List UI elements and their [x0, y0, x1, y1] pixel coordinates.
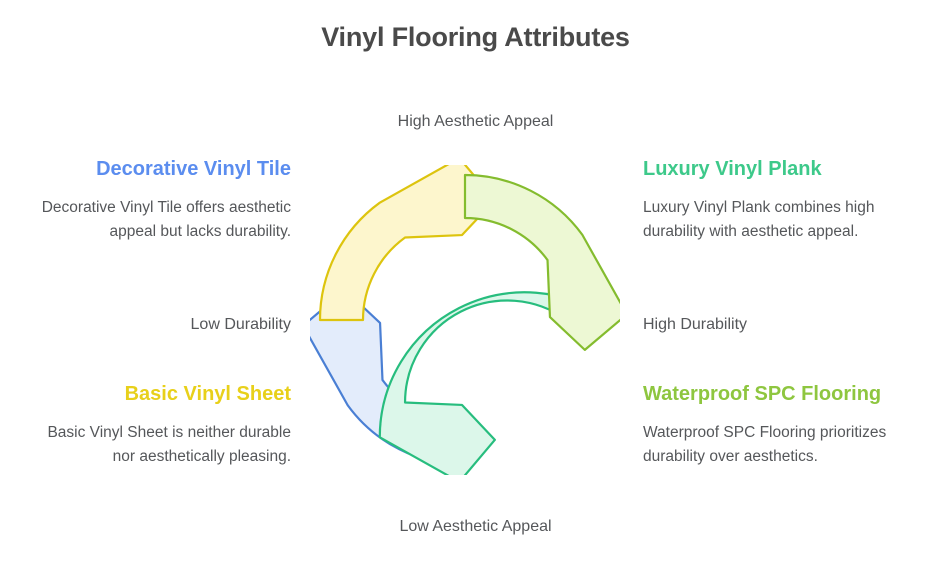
cycle-diagram: [310, 165, 620, 475]
quadrant-luxury-vinyl-plank: Luxury Vinyl Plank Luxury Vinyl Plank co…: [643, 156, 894, 244]
quadrant-heading-basic-vinyl-sheet: Basic Vinyl Sheet: [40, 381, 291, 408]
quadrant-heading-waterproof-spc-flooring: Waterproof SPC Flooring: [643, 381, 894, 408]
axis-label-high-aesthetic-appeal: High Aesthetic Appeal: [0, 113, 951, 131]
axis-label-low-durability: Low Durability: [0, 316, 291, 334]
quadrant-decorative-vinyl-tile: Decorative Vinyl Tile Decorative Vinyl T…: [40, 156, 291, 244]
quadrant-heading-decorative-vinyl-tile: Decorative Vinyl Tile: [40, 156, 291, 183]
quadrant-heading-luxury-vinyl-plank: Luxury Vinyl Plank: [643, 156, 894, 183]
quadrant-body-luxury-vinyl-plank: Luxury Vinyl Plank combines high durabil…: [643, 196, 894, 244]
quadrant-basic-vinyl-sheet: Basic Vinyl Sheet Basic Vinyl Sheet is n…: [40, 381, 291, 469]
quadrant-body-waterproof-spc-flooring: Waterproof SPC Flooring prioritizes dura…: [643, 421, 894, 469]
cycle-segment-bottom-right[interactable]: [465, 175, 620, 350]
quadrant-body-decorative-vinyl-tile: Decorative Vinyl Tile offers aesthetic a…: [40, 196, 291, 244]
axis-label-high-durability: High Durability: [643, 316, 934, 334]
quadrant-waterproof-spc-flooring: Waterproof SPC Flooring Waterproof SPC F…: [643, 381, 894, 469]
page-title: Vinyl Flooring Attributes: [0, 22, 951, 53]
axis-label-low-aesthetic-appeal: Low Aesthetic Appeal: [0, 518, 951, 536]
quadrant-body-basic-vinyl-sheet: Basic Vinyl Sheet is neither durable nor…: [40, 421, 291, 469]
